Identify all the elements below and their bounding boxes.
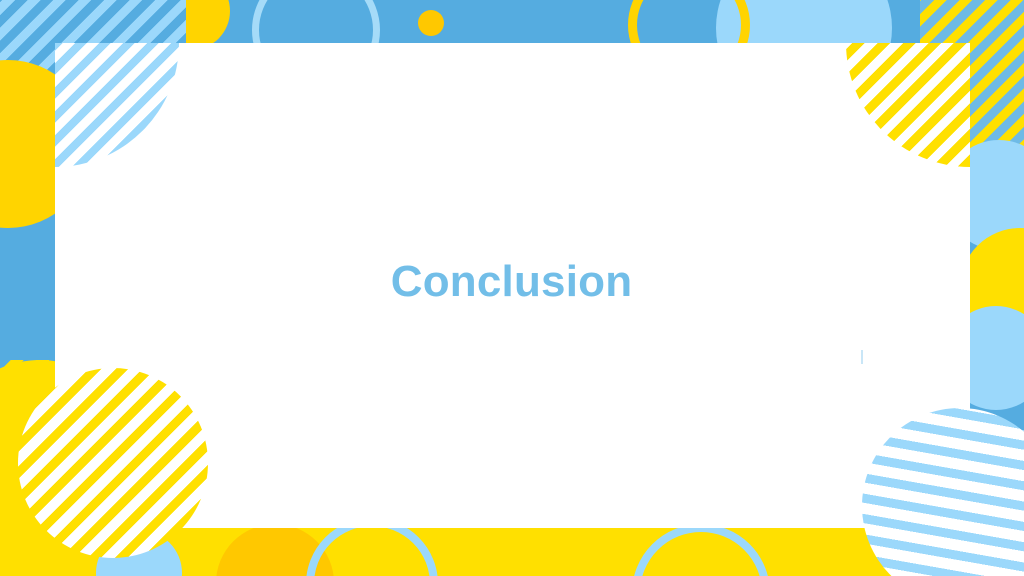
slide-canvas: Conclusion	[0, 0, 1024, 576]
page-title: Conclusion	[391, 257, 633, 307]
yellow-dot-top	[418, 10, 444, 36]
text-cursor	[861, 350, 863, 364]
striped-circle-bottom-left	[18, 368, 208, 558]
